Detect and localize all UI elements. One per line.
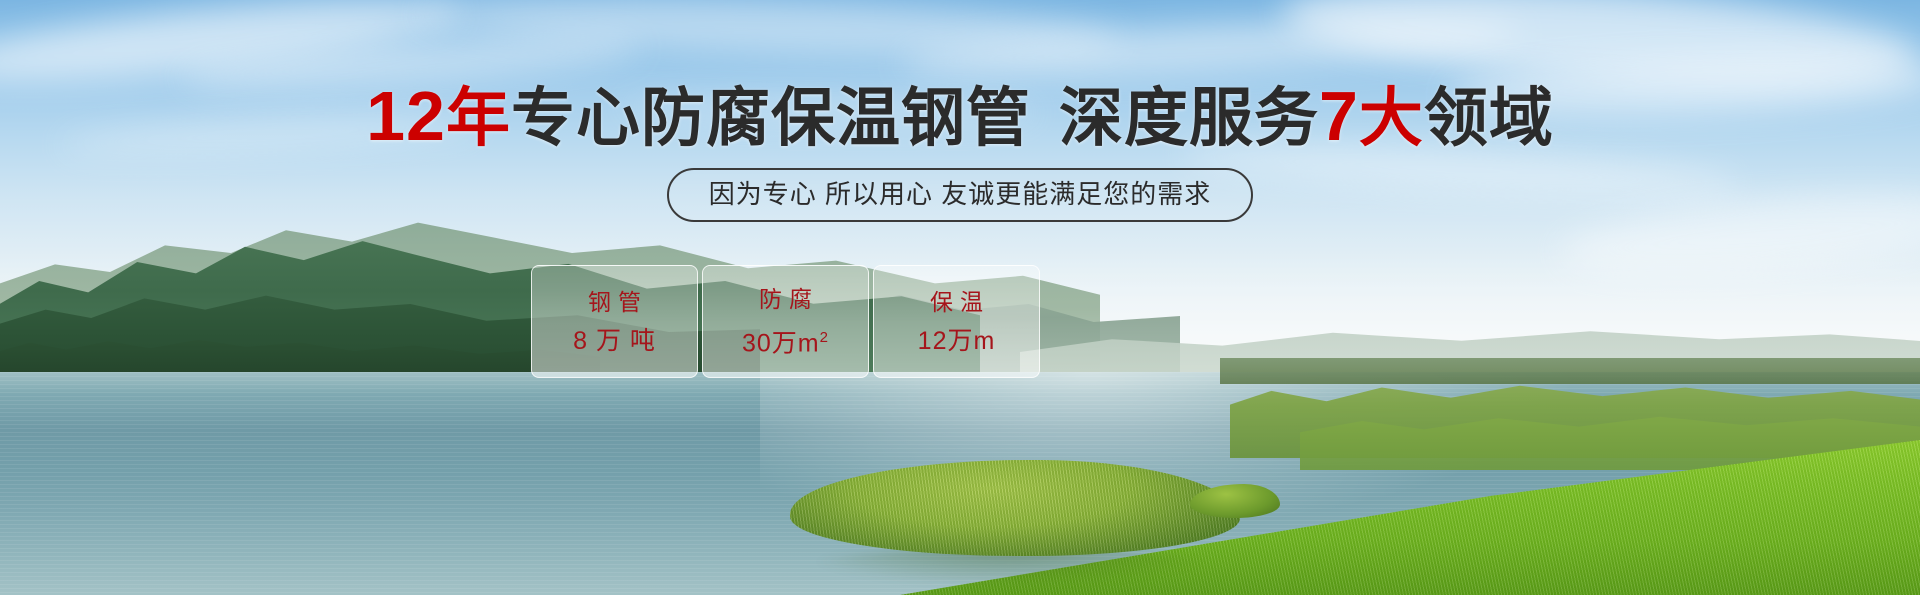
stat-card-value: 30万m2 (742, 324, 829, 357)
stat-value-text: 30万m (742, 329, 820, 357)
stat-card-insulation: 保温 12万m (873, 265, 1040, 378)
stat-card-label: 钢管 (581, 289, 648, 315)
stat-value-superscript: 2 (820, 329, 829, 346)
headline-main-text: 专心防腐保温钢管 (511, 82, 1031, 154)
banner-subtitle-pill: 因为专心 所以用心 友诚更能满足您的需求 (667, 168, 1253, 222)
far-shoreline (1220, 358, 1920, 384)
banner-subtitle-wrapper: 因为专心 所以用心 友诚更能满足您的需求 (0, 168, 1920, 222)
stat-card-steel-pipe: 钢管 8 万 吨 (531, 265, 698, 378)
stat-card-label: 防腐 (752, 286, 819, 312)
stat-card-value: 8 万 吨 (573, 327, 656, 355)
stat-value-text: 8 万 吨 (573, 327, 656, 355)
headline-years-unit: 年 (446, 82, 511, 154)
banner-headline: 12年专心防腐保温钢管深度服务7大领域 (0, 84, 1920, 150)
stat-card-group: 钢管 8 万 吨 防腐 30万m2 保温 12万m (531, 265, 1040, 378)
stat-value-text: 12万m (918, 327, 996, 355)
stat-card-value: 12万m (918, 327, 996, 355)
headline-highlight-unit: 大 (1359, 82, 1424, 154)
stat-card-label: 保温 (923, 289, 990, 315)
headline-years-number: 12 (366, 77, 446, 155)
headline-highlight-number: 7 (1319, 77, 1359, 155)
stat-card-anticorrosion: 防腐 30万m2 (702, 265, 869, 378)
headline-service-text: 深度服务 (1059, 82, 1319, 154)
hero-banner: 12年专心防腐保温钢管深度服务7大领域 因为专心 所以用心 友诚更能满足您的需求… (0, 0, 1920, 595)
headline-tail-text: 领域 (1424, 82, 1554, 154)
